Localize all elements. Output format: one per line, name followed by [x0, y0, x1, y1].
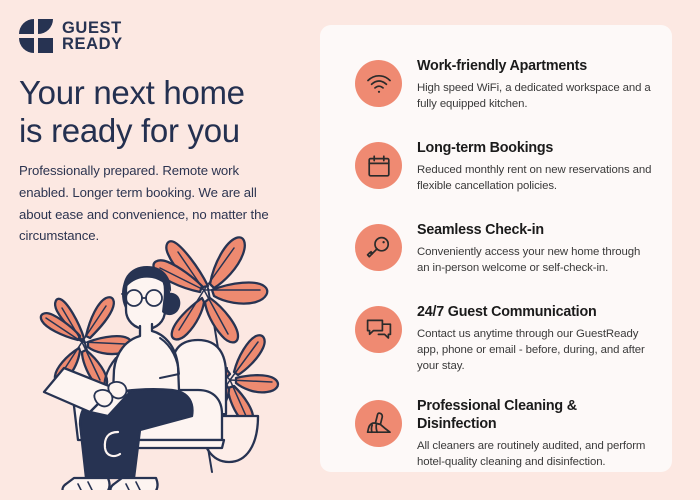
feature-title: 24/7 Guest Communication — [417, 304, 654, 322]
feature-item-guest-communication[interactable]: 24/7 Guest Communication Contact us anyt… — [320, 302, 672, 374]
feature-title: Seamless Check-in — [417, 222, 654, 240]
feature-item-professional-cleaning[interactable]: Professional Cleaning & Disinfection All… — [320, 396, 672, 470]
feature-body: Professional Cleaning & Disinfection All… — [402, 396, 654, 470]
feature-description: Conveniently access your new home throug… — [417, 244, 654, 276]
feature-item-long-term-bookings[interactable]: Long-term Bookings Reduced monthly rent … — [320, 138, 672, 198]
feature-title: Long-term Bookings — [417, 140, 654, 158]
feature-body: 24/7 Guest Communication Contact us anyt… — [402, 302, 654, 374]
feature-body: Work-friendly Apartments High speed WiFi… — [402, 56, 654, 112]
feature-description: All cleaners are routinely audited, and … — [417, 438, 654, 470]
brand-wordmark: GUEST READY — [62, 20, 123, 52]
feature-body: Seamless Check-in Conveniently access yo… — [402, 220, 654, 276]
feature-description: Contact us anytime through our GuestRead… — [417, 326, 654, 375]
feature-title: Work-friendly Apartments — [417, 58, 654, 76]
headline-line-1: Your next home — [19, 74, 245, 111]
features-card: Work-friendly Apartments High speed WiFi… — [320, 25, 672, 472]
feature-item-work-friendly-apartments[interactable]: Work-friendly Apartments High speed WiFi… — [320, 56, 672, 116]
cleaning-brush-icon — [355, 400, 402, 447]
feature-list: Work-friendly Apartments High speed WiFi… — [320, 25, 672, 471]
page-title: Your next home is ready for you — [19, 74, 309, 151]
hero-column: GUEST READY Your next home is ready for … — [0, 0, 320, 500]
calendar-icon — [355, 142, 402, 189]
key-icon — [355, 224, 402, 271]
feature-description: Reduced monthly rent on new reservations… — [417, 162, 654, 194]
guestready-quadrant-logo-icon — [19, 19, 53, 53]
hero-illustration — [22, 228, 314, 490]
feature-description: High speed WiFi, a dedicated workspace a… — [417, 80, 654, 112]
brand-name-line-2: READY — [62, 36, 123, 52]
feature-item-seamless-check-in[interactable]: Seamless Check-in Conveniently access yo… — [320, 220, 672, 280]
wifi-icon — [355, 60, 402, 107]
person — [44, 266, 192, 490]
brand-logo[interactable]: GUEST READY — [19, 19, 123, 53]
brand-name-line-1: GUEST — [62, 20, 123, 36]
feature-body: Long-term Bookings Reduced monthly rent … — [402, 138, 654, 194]
chat-bubbles-icon — [355, 306, 402, 353]
feature-title: Professional Cleaning & Disinfection — [417, 398, 654, 434]
headline-line-2: is ready for you — [19, 112, 240, 149]
